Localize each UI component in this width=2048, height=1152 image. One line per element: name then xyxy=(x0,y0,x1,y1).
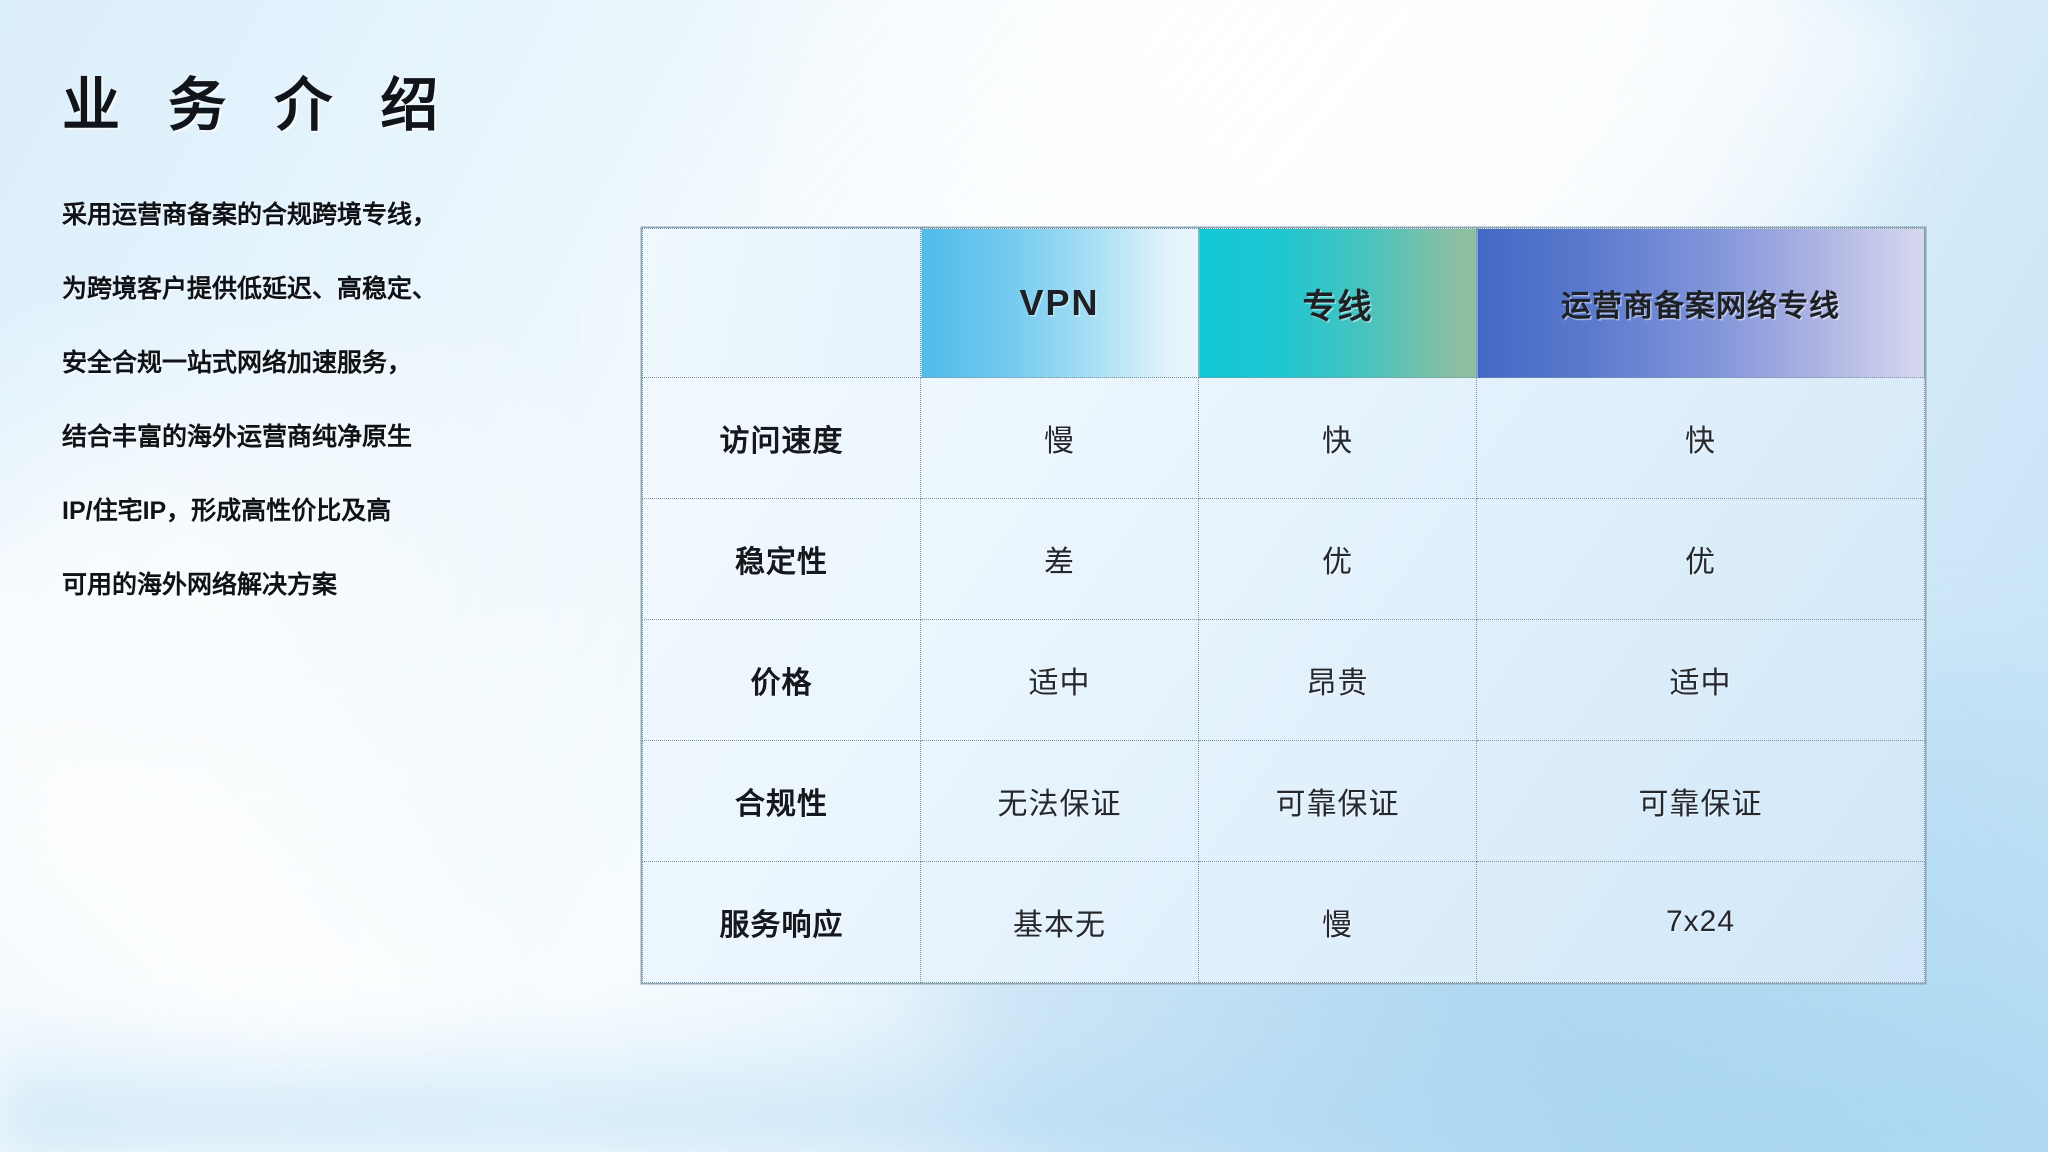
paragraph-line: 结合丰富的海外运营商纯净原生 xyxy=(62,400,482,474)
table-cell-value: 7x24 xyxy=(1666,905,1735,938)
table-cell-dedicated-line: 快 xyxy=(1199,378,1477,499)
table-cell-carrier-line: 7x24 xyxy=(1477,862,1925,983)
table-cell-value: 可靠保证 xyxy=(1276,788,1400,821)
slide-canvas: 业 务 介 绍 采用运营商备案的合规跨境专线， 为跨境客户提供低延迟、高稳定、 … xyxy=(0,0,2048,1152)
comparison-table: VPN 专线 运营商备案网络专线 访问速度 慢 快 快 稳定性 差 优 xyxy=(642,228,1925,983)
table-cell-dedicated-line: 昂贵 xyxy=(1199,620,1477,741)
table-row-label-cell: 服务响应 xyxy=(643,862,921,983)
table-row-label: 稳定性 xyxy=(735,546,828,579)
table-cell-value: 优 xyxy=(1685,546,1716,579)
table-header-cell-carrier-line: 运营商备案网络专线 xyxy=(1477,229,1925,378)
table-header-label: 专线 xyxy=(1303,288,1373,326)
table-row: 价格 适中 昂贵 适中 xyxy=(643,620,1925,741)
table-cell-value: 昂贵 xyxy=(1307,667,1369,700)
table-header-cell-dedicated-line: 专线 xyxy=(1199,229,1477,378)
table-row: 稳定性 差 优 优 xyxy=(643,499,1925,620)
table-cell-vpn: 无法保证 xyxy=(921,741,1199,862)
paragraph-line: 采用运营商备案的合规跨境专线， xyxy=(62,178,482,252)
table-cell-value: 无法保证 xyxy=(998,788,1122,821)
table-cell-dedicated-line: 优 xyxy=(1199,499,1477,620)
paragraph-line: 为跨境客户提供低延迟、高稳定、 xyxy=(62,252,482,326)
paragraph-line: 可用的海外网络解决方案 xyxy=(62,548,482,622)
table-row-label-cell: 价格 xyxy=(643,620,921,741)
table-cell-carrier-line: 优 xyxy=(1477,499,1925,620)
table-row: 服务响应 基本无 慢 7x24 xyxy=(643,862,1925,983)
table-cell-value: 可靠保证 xyxy=(1639,788,1763,821)
table-cell-value: 适中 xyxy=(1670,667,1732,700)
table-row-label: 合规性 xyxy=(735,788,828,821)
page-title: 业 务 介 绍 xyxy=(62,58,454,142)
description-paragraph: 采用运营商备案的合规跨境专线， 为跨境客户提供低延迟、高稳定、 安全合规一站式网… xyxy=(62,178,482,622)
table-cell-value: 快 xyxy=(1322,425,1353,458)
paragraph-line: IP/住宅IP，形成高性价比及高 xyxy=(62,474,482,548)
table-cell-dedicated-line: 可靠保证 xyxy=(1199,741,1477,862)
table-row-label: 价格 xyxy=(751,667,813,700)
table-cell-vpn: 适中 xyxy=(921,620,1199,741)
table-header-label: 运营商备案网络专线 xyxy=(1561,290,1840,323)
table-cell-value: 基本无 xyxy=(1013,909,1106,942)
table-cell-carrier-line: 快 xyxy=(1477,378,1925,499)
table-cell-value: 差 xyxy=(1044,546,1075,579)
table-row-label: 服务响应 xyxy=(720,909,844,942)
table-cell-value: 慢 xyxy=(1322,909,1353,942)
table-row-label-cell: 访问速度 xyxy=(643,378,921,499)
paragraph-line: 安全合规一站式网络加速服务， xyxy=(62,326,482,400)
table-header: VPN 专线 运营商备案网络专线 xyxy=(643,229,1925,378)
table-row: 合规性 无法保证 可靠保证 可靠保证 xyxy=(643,741,1925,862)
table-cell-value: 优 xyxy=(1322,546,1353,579)
table-cell-value: 适中 xyxy=(1029,667,1091,700)
table-cell-carrier-line: 适中 xyxy=(1477,620,1925,741)
table-header-cell-blank xyxy=(643,229,921,378)
table-header-row: VPN 专线 运营商备案网络专线 xyxy=(643,229,1925,378)
table-cell-value: 快 xyxy=(1685,425,1716,458)
table-cell-vpn: 基本无 xyxy=(921,862,1199,983)
table-cell-carrier-line: 可靠保证 xyxy=(1477,741,1925,862)
background-light-streak xyxy=(0,1012,2048,1152)
table-header-label: VPN xyxy=(1019,282,1099,323)
table-row-label-cell: 稳定性 xyxy=(643,499,921,620)
table-cell-vpn: 慢 xyxy=(921,378,1199,499)
table-header-cell-vpn: VPN xyxy=(921,229,1199,378)
table-cell-dedicated-line: 慢 xyxy=(1199,862,1477,983)
table-cell-vpn: 差 xyxy=(921,499,1199,620)
table-row: 访问速度 慢 快 快 xyxy=(643,378,1925,499)
table-cell-value: 慢 xyxy=(1044,425,1075,458)
table-body: 访问速度 慢 快 快 稳定性 差 优 优 价格 适中 昂贵 适中 合规性 无法保… xyxy=(643,378,1925,983)
table-row-label: 访问速度 xyxy=(720,425,844,458)
table-row-label-cell: 合规性 xyxy=(643,741,921,862)
